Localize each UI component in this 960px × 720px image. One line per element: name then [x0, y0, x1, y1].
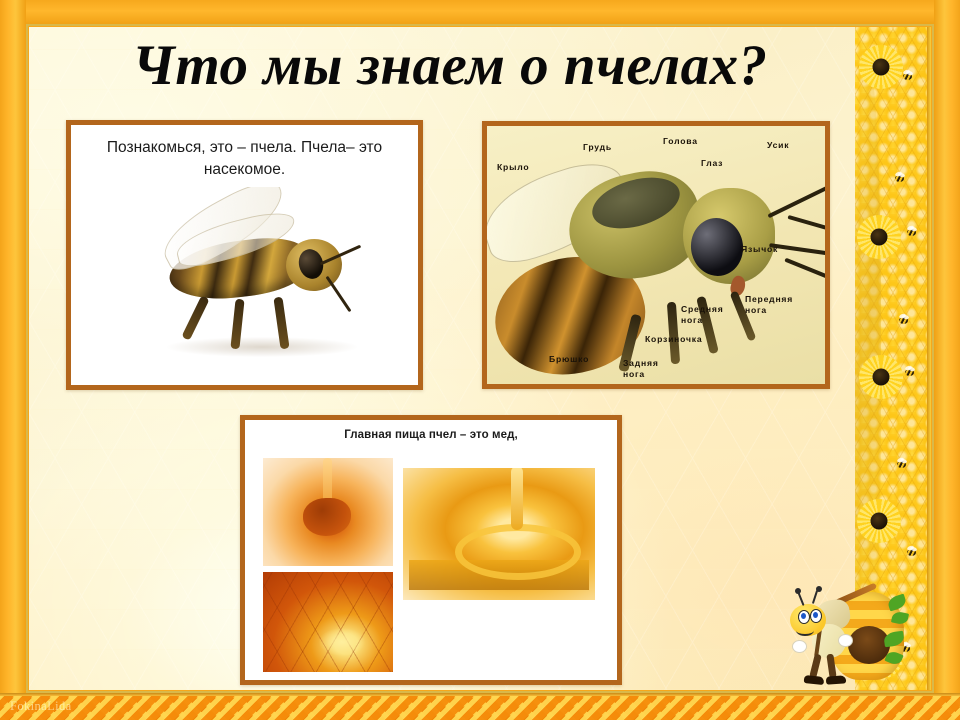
sunflower-icon: [857, 215, 901, 259]
honey-pool-with-stream: [403, 468, 595, 600]
honey-caption: Главная пища пчел – это мед,: [255, 429, 607, 441]
frame-band-left: [0, 0, 26, 720]
bee-intro-caption: Познакомься, это – пчела. Пчела– это нас…: [85, 137, 404, 181]
mascot-pupil: [801, 613, 806, 619]
zigzag-top-edge: [0, 693, 960, 696]
mascot-antenna-ball: [816, 586, 822, 592]
mascot-smile: [796, 625, 814, 636]
sunflower-core: [871, 229, 888, 246]
anatomy-middle-leg: [667, 302, 680, 364]
bee-anatomy-card[interactable]: КрылоГрудьГоловаГлазУсикЯзычокПередняя н…: [482, 121, 830, 389]
honey-blob: [303, 498, 351, 536]
anatomy-label: Средняя нога: [681, 304, 724, 325]
anatomy-label: Корзиночка: [645, 334, 702, 345]
beehive-entrance: [848, 626, 890, 664]
bee-icon: [901, 71, 916, 82]
anatomy-label: Голова: [663, 136, 698, 147]
honey-ripple-ring: [455, 524, 581, 580]
zigzag-pattern: [0, 693, 960, 720]
mascot-hand: [792, 640, 807, 653]
anatomy-label: Крыло: [497, 162, 529, 173]
mascot-antenna: [797, 592, 804, 606]
bee-intro-card[interactable]: Познакомься, это – пчела. Пчела– это нас…: [66, 120, 423, 390]
anatomy-label: Грудь: [583, 142, 612, 153]
mascot-hand: [838, 634, 853, 647]
strip-right-rule: [927, 27, 931, 690]
bee-shadow: [167, 337, 357, 357]
sunflower-core: [873, 369, 890, 386]
anatomy-label: Усик: [767, 140, 789, 151]
sunflower-core: [871, 513, 888, 530]
bee-anatomy-diagram: КрылоГрудьГоловаГлазУсикЯзычокПередняя н…: [487, 126, 825, 384]
sunflower-icon: [859, 45, 903, 89]
anatomy-antenna-4: [784, 258, 825, 283]
honey-pouring-into-bowl: [263, 458, 393, 566]
cartoon-bee-mascot: [786, 578, 906, 690]
honeycomb-filled-with-honey: [263, 572, 393, 672]
honeybee-photo: [71, 187, 418, 387]
mascot-antenna: [812, 590, 818, 604]
mascot-shoe: [804, 675, 825, 685]
bee-icon: [897, 315, 912, 326]
anatomy-label: Глаз: [701, 158, 723, 169]
bee-icon: [895, 459, 910, 470]
anatomy-label: Передняя нога: [745, 294, 793, 315]
anatomy-antenna-1: [767, 186, 825, 219]
sunflower-icon: [857, 499, 901, 543]
mascot-pupil: [813, 612, 818, 618]
sunflower-core: [873, 59, 890, 76]
frame-band-right: [934, 0, 960, 720]
frame-band-bottom: [0, 693, 960, 720]
bee-icon: [905, 227, 920, 238]
bee-hind-leg: [181, 295, 209, 340]
honey-photo-collage: Главная пища пчел – это мед,: [245, 420, 617, 680]
bee-icon: [905, 547, 920, 558]
bee-antenna-right: [326, 276, 352, 312]
watermark: FokinaLida: [10, 699, 72, 714]
honeycomb-gleam: [319, 628, 365, 656]
mascot-shoe: [826, 675, 847, 684]
bee-icon: [903, 367, 918, 378]
slide-canvas: Что мы знаем о пчелах? Познакомься, это …: [0, 0, 960, 720]
page-title: Что мы знаем о пчелах?: [50, 36, 850, 96]
honey-stream: [511, 468, 523, 530]
leaf-icon: [886, 594, 907, 612]
anatomy-antenna-2: [787, 215, 825, 233]
mascot-antenna-ball: [795, 588, 801, 594]
anatomy-label: Язычок: [741, 244, 778, 255]
frame-band-top: [0, 0, 960, 24]
anatomy-label: Задняя нога: [623, 358, 659, 379]
sunflower-icon: [859, 355, 903, 399]
bee-icon: [893, 173, 908, 184]
anatomy-label: Брюшко: [549, 354, 589, 365]
honey-food-card[interactable]: Главная пища пчел – это мед,: [240, 415, 622, 685]
